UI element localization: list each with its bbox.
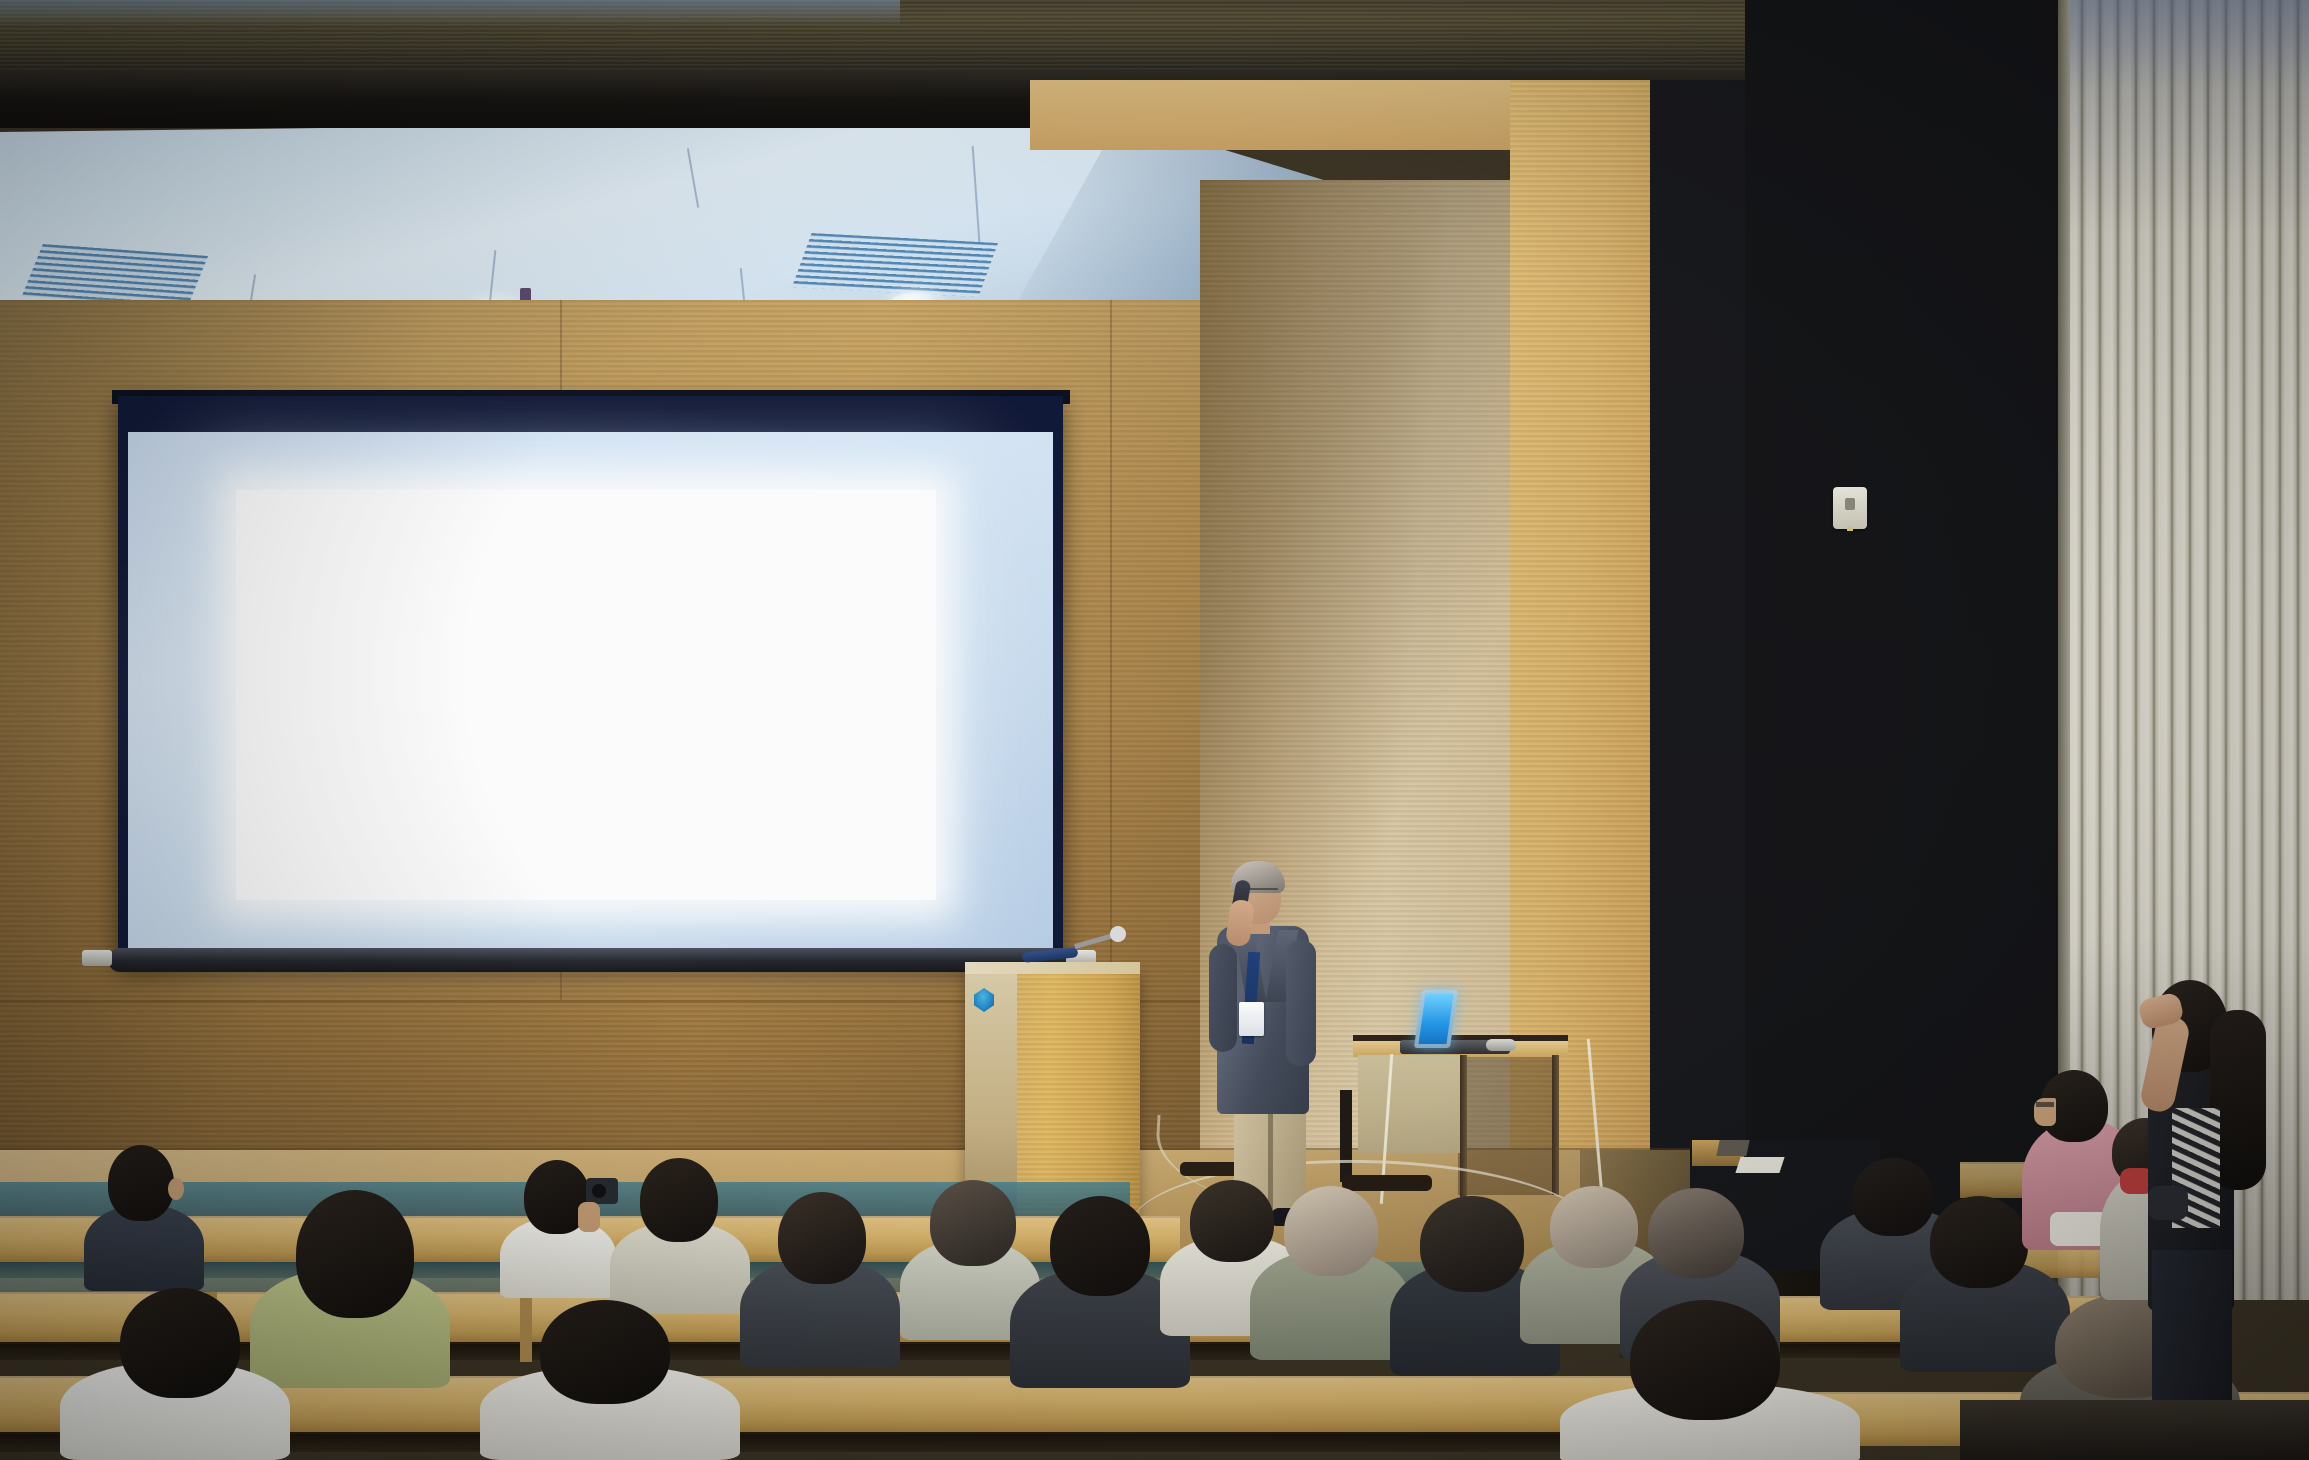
speaker-left-arm (1209, 944, 1237, 1052)
audience-person-head (108, 1145, 174, 1221)
equipment-device-icon (1716, 1140, 1749, 1156)
camera-lens-icon (592, 1184, 606, 1198)
seat-divider (520, 1292, 532, 1362)
audience-person-head (930, 1180, 1016, 1266)
audience-person-head (1284, 1186, 1378, 1276)
standing-woman-hand (2148, 1186, 2188, 1220)
audience-person-hand (578, 1202, 600, 1232)
projector-light-haze (40, 360, 1160, 1020)
audience-person-ear (168, 1178, 184, 1200)
audience-person-head (1190, 1180, 1274, 1262)
podium-logo-text (968, 1018, 1014, 1038)
audience-person-glasses-icon (2036, 1102, 2054, 1107)
soffit-light-glow (0, 0, 900, 26)
audience-person-head (296, 1190, 414, 1318)
foreground-shadow-mass (1960, 1400, 2309, 1460)
audience-person-head (1852, 1158, 1934, 1236)
audience-person-head (120, 1288, 240, 1398)
cable-floor-plate (1342, 1175, 1432, 1191)
audience-person-head (778, 1192, 866, 1284)
podium-top-surface (965, 962, 1140, 974)
speaker-right-arm (1286, 940, 1316, 1066)
equipment-paper (1735, 1157, 1784, 1173)
dark-side-wall-upper (1745, 0, 2070, 1260)
audience-person-head (1930, 1196, 2028, 1288)
audience-person-head (1648, 1188, 1744, 1278)
standing-woman-jeans (2152, 1250, 2232, 1410)
podium-mic-head-icon (1110, 926, 1126, 942)
control-panel-led-icon (1847, 527, 1853, 531)
laptop-mouse-icon[interactable] (1486, 1039, 1516, 1051)
audience-person-head (540, 1300, 670, 1404)
audience-person-head (640, 1158, 718, 1242)
proscenium-pillar (1510, 80, 1650, 1200)
audience-person-head (1050, 1196, 1150, 1296)
speaker-name-badge (1239, 1002, 1264, 1036)
auditorium-scene (0, 0, 2309, 1460)
audience-person-head (1420, 1196, 1524, 1292)
slat-wall-glow (2070, 0, 2309, 90)
audience-person-head (1630, 1300, 1780, 1420)
audience-person-head (1550, 1186, 1638, 1268)
control-panel-switch-icon[interactable] (1845, 498, 1855, 510)
ceiling-vent-icon (792, 233, 998, 297)
